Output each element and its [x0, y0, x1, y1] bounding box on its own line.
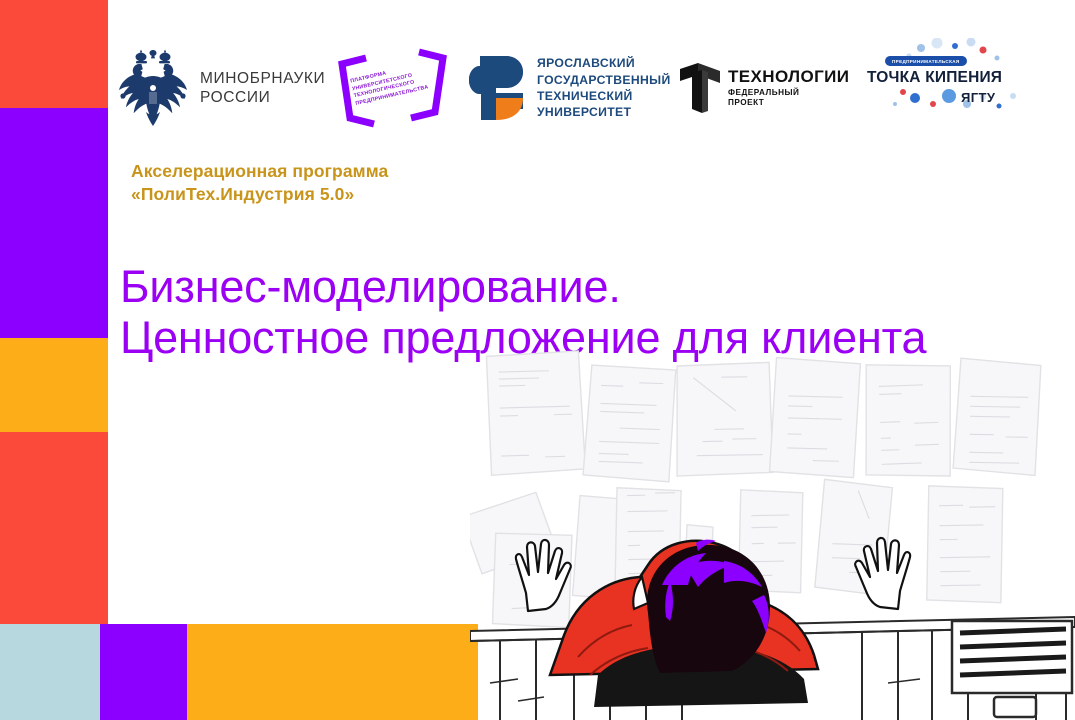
presentation-slide: МИНОБРНАУКИ РОССИИ ПЛАТФОРМА УНИВЕРСИТЕТ…: [0, 0, 1075, 720]
scattered-papers-top: [486, 351, 1041, 482]
ystu-line1: ЯРОСЛАВСКИЙ: [537, 55, 671, 71]
logo-technologies: ТЕХНОЛОГИИ ФЕДЕРАЛЬНЫЙ ПРОЕКТ: [678, 38, 853, 138]
keyboard: [952, 621, 1072, 717]
bottom-bar-light-blue: [0, 624, 100, 720]
logo-boiling-point: ПРЕДПРИНИМАТЕЛЬСКАЯ ТОЧКА КИПЕНИЯ ЯГТУ: [863, 38, 1048, 138]
stripe-segment-orange: [0, 338, 108, 432]
stripe-segment-red-top: [0, 0, 108, 108]
double-headed-eagle-emblem-icon: [116, 46, 190, 130]
stripe-segment-red-bottom: [0, 432, 108, 624]
technologies-subtitle: ФЕДЕРАЛЬНЫЙ ПРОЕКТ: [728, 88, 849, 109]
logo-minobrnauki: МИНОБРНАУКИ РОССИИ: [116, 38, 331, 138]
logo-platform: ПЛАТФОРМА УНИВЕРСИТЕТСКОГО ТЕХНОЛОГИЧЕСК…: [330, 38, 455, 138]
logo-ystu: ЯРОСЛАВСКИЙ ГОСУДАРСТВЕННЫЙ ТЕХНИЧЕСКИЙ …: [468, 38, 668, 138]
stripe-segment-purple: [0, 108, 108, 338]
ystu-ya-monogram-icon: [468, 52, 526, 124]
minobrnauki-label: МИНОБРНАУКИ РОССИИ: [200, 69, 325, 108]
technologies-t-mark-icon: [678, 61, 722, 115]
slide-illustration: [470, 345, 1075, 720]
bottom-bar-orange: [187, 624, 478, 720]
boiling-point-subtitle: ЯГТУ: [961, 90, 995, 105]
technologies-label: ТЕХНОЛОГИИ ФЕДЕРАЛЬНЫЙ ПРОЕКТ: [728, 68, 849, 109]
minobrnauki-line2: РОССИИ: [200, 88, 325, 107]
minobrnauki-line1: МИНОБРНАУКИ: [200, 69, 325, 88]
boiling-point-title: ТОЧКА КИПЕНИЯ: [867, 69, 1002, 87]
program-label: Акселерационная программа «ПолиТех.Индус…: [131, 160, 388, 207]
bottom-bar-purple: [100, 624, 187, 720]
technologies-title: ТЕХНОЛОГИИ: [728, 68, 849, 85]
ystu-line2: ГОСУДАРСТВЕННЫЙ: [537, 72, 671, 88]
ystu-label: ЯРОСЛАВСКИЙ ГОСУДАРСТВЕННЫЙ ТЕХНИЧЕСКИЙ …: [537, 55, 671, 121]
ystu-line3: ТЕХНИЧЕСКИЙ: [537, 88, 671, 104]
ystu-line4: УНИВЕРСИТЕТ: [537, 104, 671, 120]
logo-row: МИНОБРНАУКИ РОССИИ ПЛАТФОРМА УНИВЕРСИТЕТ…: [108, 38, 1048, 138]
boiling-point-badge: ПРЕДПРИНИМАТЕЛЬСКАЯ: [885, 56, 967, 66]
